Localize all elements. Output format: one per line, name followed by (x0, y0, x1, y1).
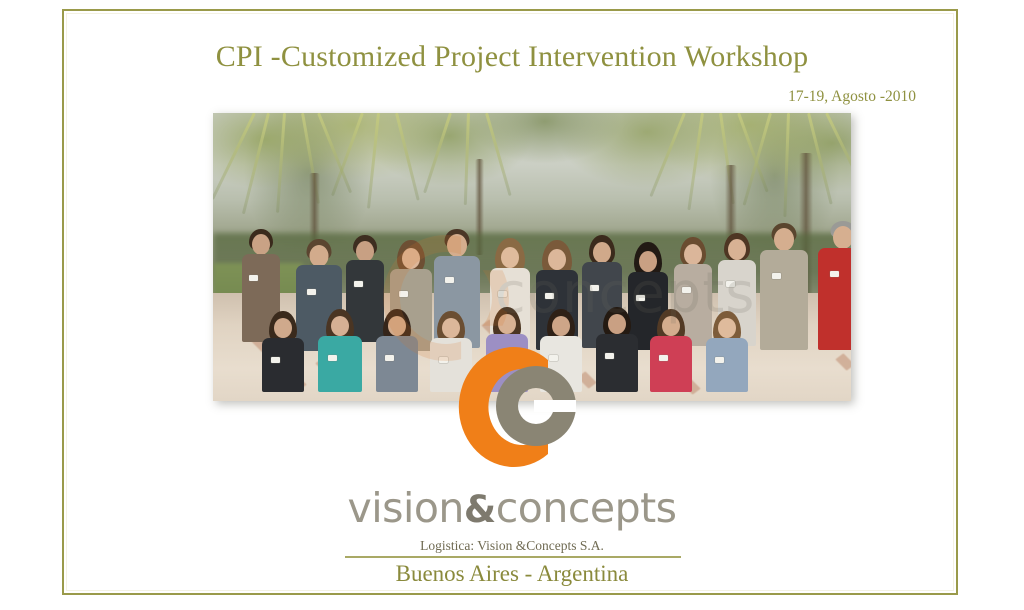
participant (649, 311, 693, 391)
vision-concepts-logo-icon (444, 336, 592, 478)
page-title: CPI -Customized Project Intervention Wor… (0, 40, 1024, 74)
location-label: Buenos Aires - Argentina (0, 561, 1024, 587)
logo-gray-ring (496, 366, 576, 446)
workshop-date: 17-19, Agosto -2010 (788, 88, 916, 106)
wordmark-concepts: concepts (496, 484, 677, 532)
participant (817, 223, 851, 349)
logistics-credit: Logistica: Vision &Concepts S.A. (0, 538, 1024, 554)
footer-divider (345, 556, 681, 558)
wordmark-ampersand: & (464, 488, 496, 531)
participant (705, 313, 749, 391)
participant (317, 311, 363, 391)
wordmark-vision: vision (347, 484, 463, 532)
participant (261, 313, 305, 391)
participant (595, 309, 639, 391)
participant (759, 225, 809, 349)
brand-wordmark: vision&concepts (0, 484, 1024, 532)
participant (375, 311, 419, 391)
